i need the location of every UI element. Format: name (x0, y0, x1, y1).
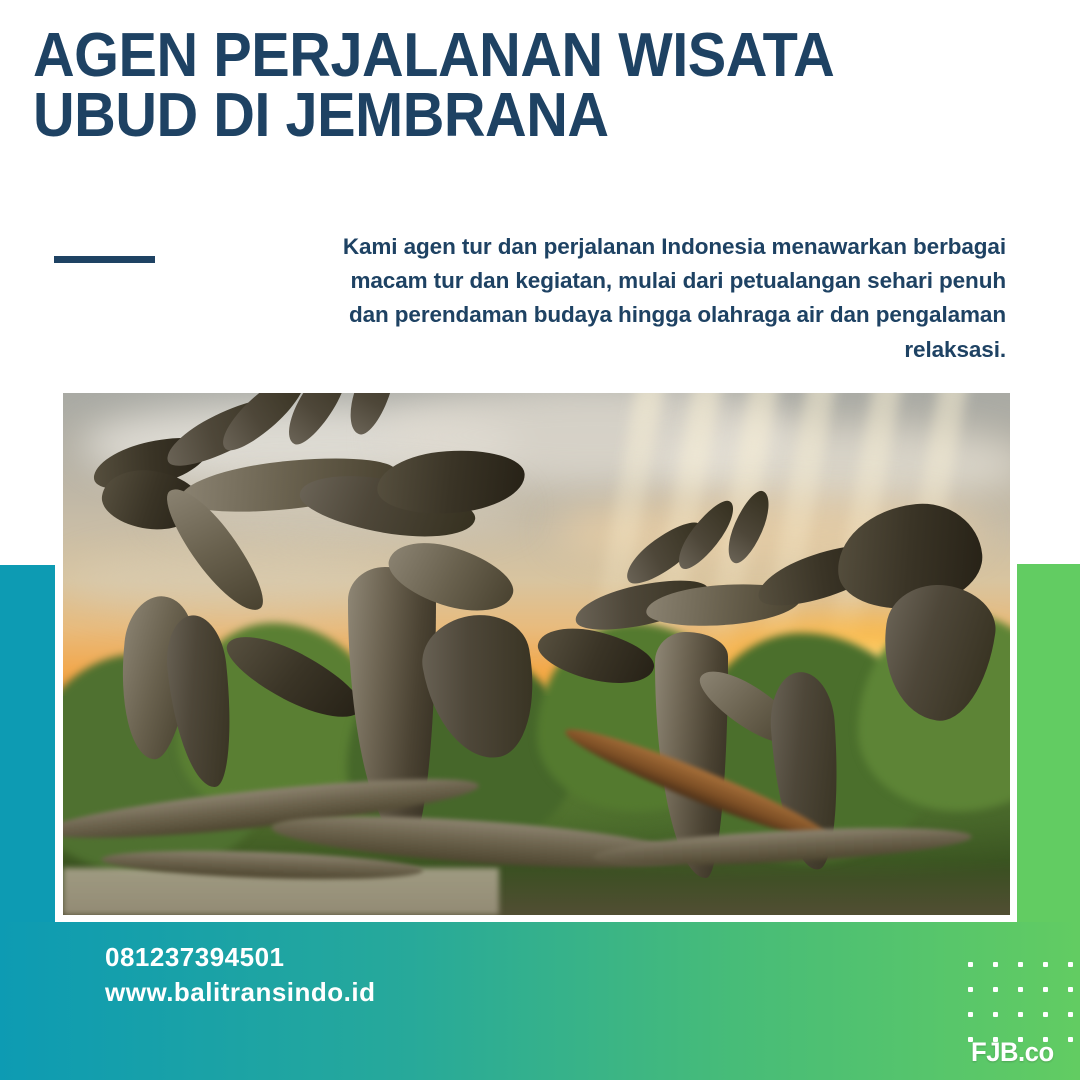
grid-dot (1043, 962, 1048, 967)
grid-dot (1068, 962, 1073, 967)
grid-dot (993, 987, 998, 992)
left-accent-bar (0, 565, 55, 923)
intro-paragraph: Kami agen tur dan perjalanan Indonesia m… (330, 230, 1006, 367)
grid-dot (993, 962, 998, 967)
grid-dot (1068, 987, 1073, 992)
grid-dot (968, 987, 973, 992)
grid-dot (1018, 1012, 1023, 1017)
hero-photo (63, 393, 1010, 915)
grid-dot (1068, 1037, 1073, 1042)
website-url[interactable]: www.balitransindo.id (105, 975, 376, 1010)
grid-dot (1068, 1012, 1073, 1017)
contact-block: 081237394501 www.balitransindo.id (105, 940, 376, 1010)
title-rule (54, 256, 155, 263)
grid-dot (993, 1012, 998, 1017)
grid-dot (1018, 987, 1023, 992)
page-title: AGEN PERJALANAN WISATA UBUD DI JEMBRANA (33, 26, 963, 146)
brand-logo: FJB.co (971, 1037, 1054, 1068)
grid-dot (968, 962, 973, 967)
grid-dot (1018, 962, 1023, 967)
footer-band: 081237394501 www.balitransindo.id (0, 922, 1080, 1080)
phone-number[interactable]: 081237394501 (105, 940, 376, 975)
photo-frame (56, 386, 1017, 922)
grid-dot (968, 1012, 973, 1017)
grid-dot (1043, 987, 1048, 992)
grid-dot (1043, 1012, 1048, 1017)
right-accent-bar (1014, 564, 1080, 923)
